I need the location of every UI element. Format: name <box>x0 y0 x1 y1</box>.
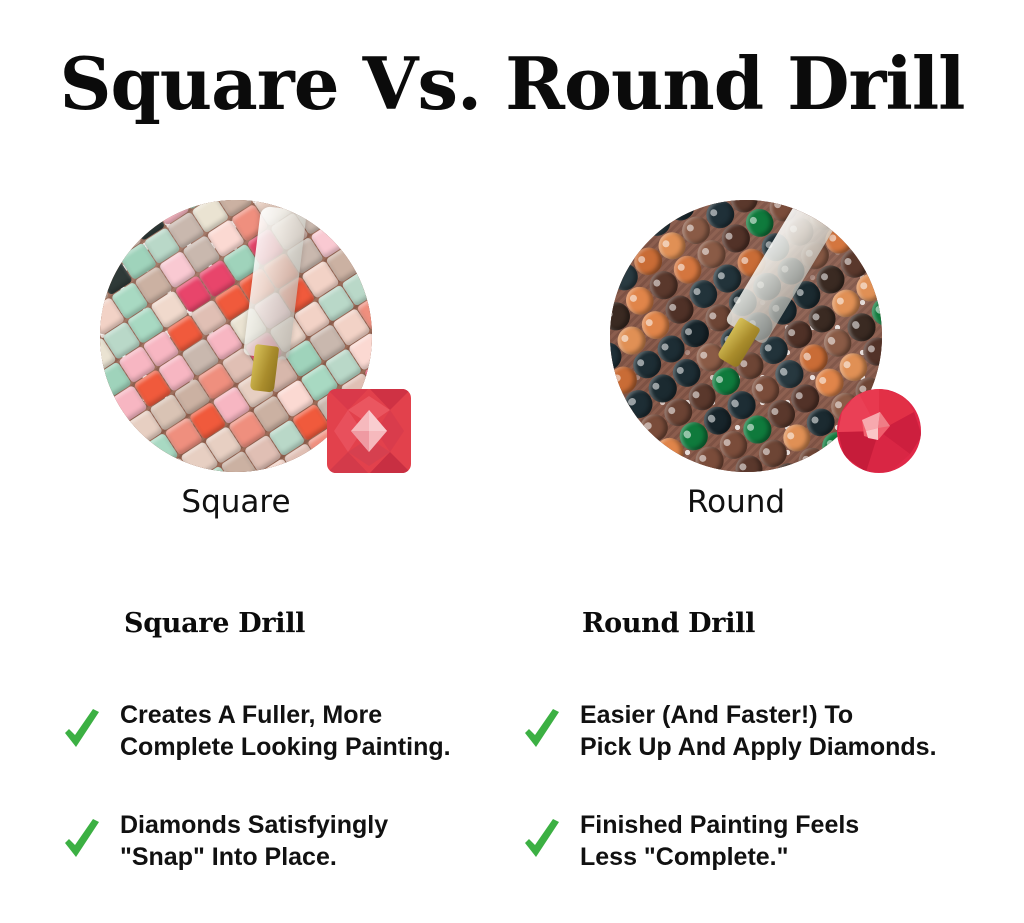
round-photo-caption: Round <box>566 484 906 520</box>
benefit-text: Finished Painting Feels Less "Complete." <box>580 809 859 873</box>
benefit-text: Diamonds Satisfyingly "Snap" Into Place. <box>120 809 388 873</box>
square-gem-icon <box>326 388 412 474</box>
round-gem-icon <box>836 388 922 474</box>
round-drill-heading: Round Drill <box>522 608 992 639</box>
benefit-text: Creates A Fuller, More Complete Looking … <box>120 699 451 763</box>
benefit-item: Diamonds Satisfyingly "Snap" Into Place. <box>62 809 532 873</box>
checkmark-icon <box>62 819 102 863</box>
checkmark-icon <box>62 709 102 753</box>
round-drill-photo-panel <box>606 198 946 488</box>
square-drill-heading: Square Drill <box>62 608 532 639</box>
benefit-text: Easier (And Faster!) To Pick Up And Appl… <box>580 699 937 763</box>
benefit-item: Easier (And Faster!) To Pick Up And Appl… <box>522 699 992 763</box>
page-title: Square Vs. Round Drill <box>0 48 1024 120</box>
square-drill-column: Square Drill Creates A Fuller, More Comp… <box>62 608 532 919</box>
checkmark-icon <box>522 709 562 753</box>
benefit-item: Creates A Fuller, More Complete Looking … <box>62 699 532 763</box>
round-drill-column: Round Drill Easier (And Faster!) To Pick… <box>522 608 992 919</box>
checkmark-icon <box>522 819 562 863</box>
square-photo-caption: Square <box>66 484 406 520</box>
square-drill-photo-panel <box>96 198 436 488</box>
benefit-item: Finished Painting Feels Less "Complete." <box>522 809 992 873</box>
